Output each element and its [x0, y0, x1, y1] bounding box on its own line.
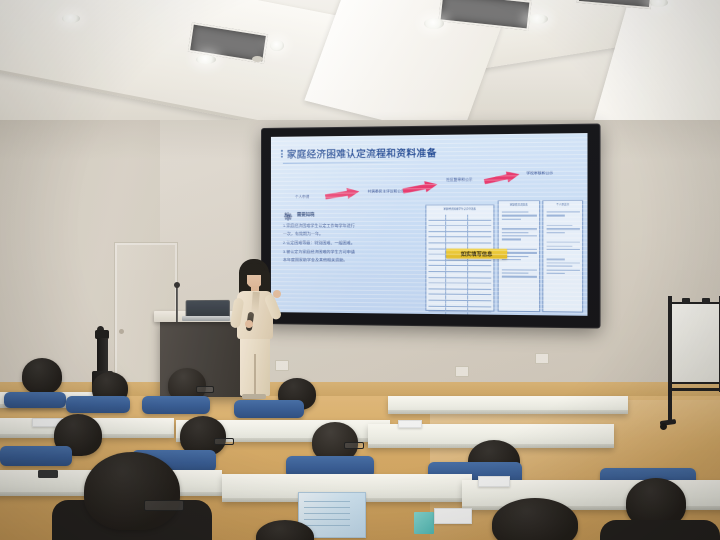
laptop-keyboard: [182, 316, 230, 321]
phone[interactable]: [38, 470, 58, 478]
ceiling-light: [270, 40, 284, 51]
notes-line: 1.家庭经济困难学生认定工作每学年进行: [283, 222, 425, 228]
whiteboard-surface: [670, 302, 720, 384]
slide-title-row: 家庭经济困难认定流程和资料准备: [281, 144, 579, 161]
slide-title: 家庭经济困难认定流程和资料准备: [287, 145, 437, 161]
door-knob-icon: [119, 329, 124, 334]
notes-block: 需要知晓 1.家庭经济困难学生认定工作每学年进行 一次，有效期为一年。 2.认定…: [283, 209, 425, 265]
flow-step-4: 学校审核和公示: [526, 171, 553, 176]
desk: [388, 396, 628, 414]
arrow-right-icon: [402, 179, 439, 197]
student-head: [84, 452, 180, 530]
form-title: 家庭经济困难学生认定申请表: [426, 205, 493, 210]
form-grid: [428, 215, 491, 308]
form-card: 个人承诺书: [542, 200, 583, 313]
glasses-case: [478, 476, 510, 487]
presenter-hand-right: [273, 290, 281, 298]
display-panel: 家庭经济困难认定流程和资料准备 个人申请 村居委民主评议和公示: [271, 133, 588, 316]
notes-heading: 需要知晓: [297, 211, 315, 217]
podium-microphone: [176, 286, 178, 322]
chair[interactable]: [142, 396, 210, 414]
glasses-icon: [344, 442, 364, 449]
slide-content: 家庭经济困难认定流程和资料准备 个人申请 村居委民主评议和公示: [271, 133, 588, 316]
easel-wheel-icon: [660, 423, 667, 430]
teal-notebook: [414, 512, 434, 534]
notes-line: 本年度国家助学金及其他相关资助。: [283, 257, 425, 264]
ceiling-light: [62, 14, 80, 23]
ceiling-light: [528, 14, 548, 24]
whiteboard-clip-icon: [702, 298, 710, 303]
laptop[interactable]: [182, 300, 230, 322]
paper-sheet: [434, 508, 472, 524]
ceiling: [0, 0, 720, 120]
presentation-display[interactable]: 家庭经济困难认定流程和资料准备 个人申请 村居委民主评议和公示: [262, 125, 599, 328]
wall-outlet: [535, 353, 549, 364]
wall-outlet: [455, 366, 469, 377]
notes-line: 2.认定困难等级：特别困难、一般困难。: [283, 240, 425, 247]
easel-post: [668, 296, 672, 424]
flow-step-3: 社区复审和公示: [446, 178, 472, 183]
student-shoulders: [600, 520, 720, 540]
form-text-lines: [546, 211, 579, 307]
tripod-pole: [97, 338, 108, 372]
presenter-hand-left: [245, 320, 253, 328]
presenter-shoes: [242, 394, 266, 399]
gear-icon: [283, 209, 294, 220]
arrow-right-icon: [483, 169, 521, 188]
lecture-hall-scene: 家庭经济困难认定流程和资料准备 个人申请 村居委民主评议和公示: [0, 0, 720, 540]
chair[interactable]: [234, 400, 304, 418]
form-title: 家庭情况调查表: [499, 201, 539, 206]
desk-edge: [388, 410, 628, 414]
presenter-trouser-seam: [254, 354, 256, 396]
chair[interactable]: [0, 446, 72, 466]
notes-line: 一次，有效期为一年。: [283, 231, 425, 237]
form-documents: 家庭经济困难学生认定申请表 家庭情况调查表: [425, 200, 584, 315]
ceiling-light: [424, 18, 444, 29]
whiteboard-clip-icon: [682, 298, 690, 303]
callout-highlight: 如实填写信息: [446, 249, 507, 260]
flow-step-1: 个人申请: [295, 195, 309, 200]
bullet-dots-icon: [281, 150, 283, 158]
student-head: [22, 358, 62, 394]
flow-step-2: 村居委民主评议和公示: [368, 189, 405, 194]
form-text-lines: [501, 211, 536, 306]
microphone-head-icon: [174, 282, 180, 288]
paper-sheet: [398, 420, 422, 428]
form-title: 个人承诺书: [543, 201, 582, 206]
glasses-icon: [214, 438, 234, 445]
easel-crossbar: [668, 388, 720, 391]
arrow-right-icon: [324, 186, 360, 202]
glasses-icon: [196, 386, 214, 393]
ceiling-light: [196, 55, 216, 64]
title-underline: [283, 162, 405, 164]
chair[interactable]: [66, 396, 130, 413]
callout-text: 如实填写信息: [461, 250, 493, 257]
presenter: [228, 258, 284, 400]
notes-line: 3.被认定为家庭经济困难的学生方可申请: [283, 249, 425, 256]
chair[interactable]: [4, 392, 66, 408]
whiteboard-easel[interactable]: [652, 292, 720, 432]
smoke-detector-icon: [252, 56, 263, 62]
notes-heading-row: 需要知晓: [283, 209, 425, 220]
glasses-icon: [144, 500, 184, 511]
